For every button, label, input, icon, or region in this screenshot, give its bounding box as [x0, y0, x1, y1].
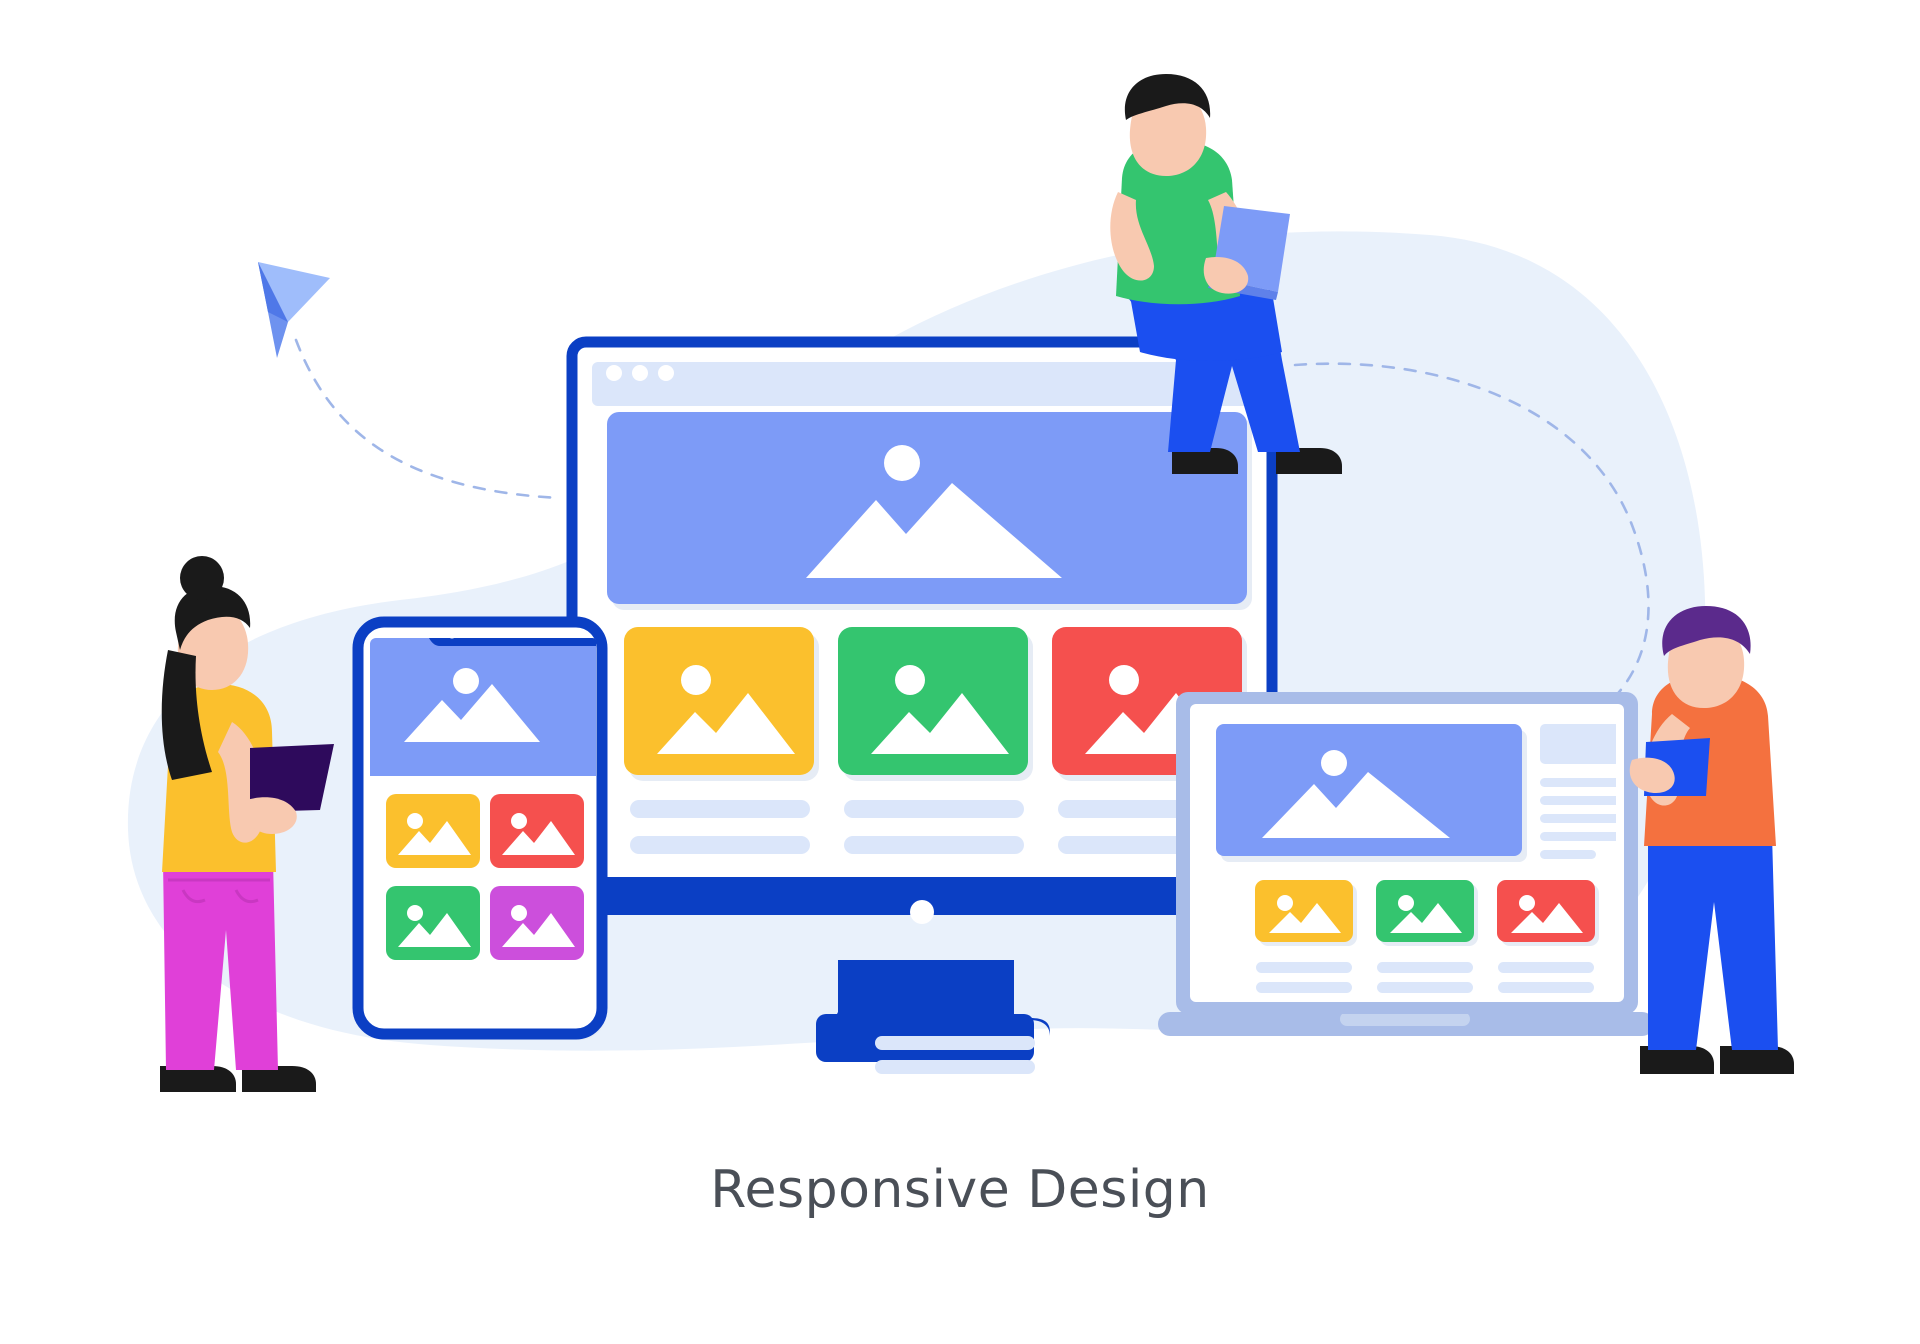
- device-laptop[interactable]: [1158, 692, 1654, 1036]
- browser-dot-2[interactable]: [632, 365, 648, 381]
- man-right-pants: [1648, 834, 1778, 1050]
- dashed-trajectory-left: [296, 340, 560, 498]
- man-right-shoe-left: [1640, 1046, 1714, 1074]
- laptop-sidebar-block: [1540, 724, 1620, 764]
- monitor-card-yellow[interactable]: [624, 627, 819, 781]
- monitor-power-dot: [910, 900, 934, 924]
- page-title: Responsive Design: [0, 1160, 1920, 1220]
- laptop-trackpad-notch: [1340, 1012, 1470, 1026]
- illustration-canvas: Responsive Design: [0, 0, 1920, 1344]
- phone-card-green[interactable]: [386, 886, 480, 960]
- browser-chrome-bar: [592, 362, 1252, 406]
- phone-card-red[interactable]: [490, 794, 584, 868]
- phone-card-purple[interactable]: [490, 886, 584, 960]
- phone-card-yellow[interactable]: [386, 794, 480, 868]
- woman-pants: [163, 860, 278, 1070]
- paper-plane-icon: [258, 262, 330, 358]
- woman-hair-bun: [180, 556, 224, 600]
- laptop-card-green[interactable]: [1376, 880, 1478, 946]
- man-right-shoe-right: [1720, 1046, 1794, 1074]
- browser-dot-1[interactable]: [606, 365, 622, 381]
- responsive-design-illustration: [0, 0, 1920, 1344]
- browser-dot-3[interactable]: [658, 365, 674, 381]
- laptop-card-yellow[interactable]: [1255, 880, 1357, 946]
- device-phone[interactable]: [358, 622, 606, 1040]
- monitor-card-green[interactable]: [838, 627, 1033, 781]
- laptop-card-red[interactable]: [1497, 880, 1599, 946]
